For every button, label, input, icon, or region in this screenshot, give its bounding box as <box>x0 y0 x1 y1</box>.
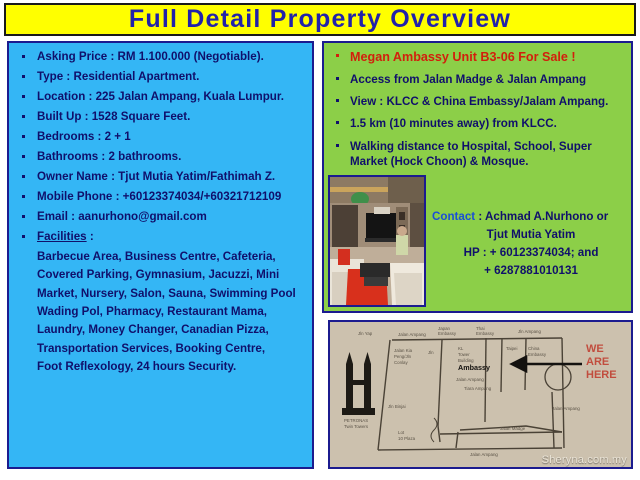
svg-text:Lot: Lot <box>398 430 405 435</box>
contact-phone-secondary: + 6287881010131 <box>432 262 630 280</box>
list-item: 1.5 km (10 minutes away) from KLCC. <box>327 116 628 131</box>
svg-text:Jalan Ampang: Jalan Ampang <box>456 377 484 382</box>
facilities-label: Facilities <box>37 230 87 243</box>
highlights-list: Megan Ambassy Unit B3-06 For Sale ! Acce… <box>327 49 628 169</box>
svg-text:KL: KL <box>458 346 464 351</box>
location-map-image: PETRONAS Twin Towers Jln Yap Jalan Ampan… <box>330 322 631 467</box>
facilities-line: Barbecue Area, Business Centre, Cafeteri… <box>37 250 308 264</box>
page-title: Full Detail Property Overview <box>129 5 511 34</box>
list-item: Built Up : 1528 Square Feet. <box>13 110 308 124</box>
svg-text:Taipei: Taipei <box>506 346 517 351</box>
facilities-line: Market, Nursery, Salon, Sauna, Swimming … <box>37 287 308 301</box>
interior-photo <box>328 175 426 307</box>
svg-text:10 Plaza: 10 Plaza <box>398 436 416 441</box>
list-item: Owner Name : Tjut Mutia Yatim/Fathimah Z… <box>13 170 308 184</box>
list-item-email: Email : aanurhono@gmail.com <box>13 210 308 224</box>
svg-text:Jalan Ampang: Jalan Ampang <box>552 406 580 411</box>
list-item: Access from Jalan Madge & Jalan Ampang <box>327 72 628 87</box>
title-bar: Full Detail Property Overview <box>4 3 636 36</box>
svg-text:Jln Binjai: Jln Binjai <box>388 404 406 409</box>
list-item: Mobile Phone : +60123374034/+60321712109 <box>13 190 308 204</box>
list-item: Bedrooms : 2 + 1 <box>13 130 308 144</box>
facilities-line: Laundry, Money Changer, Canadian Pizza, <box>37 323 308 337</box>
map-ambassy-label: Ambassy <box>458 363 490 372</box>
svg-text:Tower: Tower <box>458 352 470 357</box>
svg-text:Jalan Madge: Jalan Madge <box>500 426 526 431</box>
svg-text:China: China <box>528 346 540 351</box>
contact-line-primary: Contact : Achmad A.Nurhono or <box>432 208 630 226</box>
svg-text:Jln: Jln <box>428 350 434 355</box>
contact-name-primary: : Achmad A.Nurhono or <box>475 210 608 223</box>
facilities-line: Covered Parking, Gymnasium, Jacuzzi, Min… <box>37 268 308 282</box>
watermark: Sheryna.com.my <box>542 454 627 466</box>
contact-block: Contact : Achmad A.Nurhono or Tjut Mutia… <box>432 208 630 280</box>
svg-text:Embassy: Embassy <box>476 331 495 336</box>
contact-phone-primary: HP : + 60123374034; and <box>432 244 630 262</box>
svg-text:Tiara Ampang: Tiara Ampang <box>464 386 492 391</box>
svg-text:Embassy: Embassy <box>528 352 547 357</box>
facilities-list: Barbecue Area, Business Centre, Cafeteri… <box>13 250 308 374</box>
map-marker-line-2: ARE <box>586 356 609 368</box>
facilities-line: Foot Reflexology, 24 hours Security. <box>37 360 308 374</box>
svg-text:Twin Towers: Twin Towers <box>344 424 369 429</box>
list-item: Asking Price : RM 1.100.000 (Negotiable)… <box>13 50 308 64</box>
interior-photo-image <box>330 177 424 305</box>
svg-text:Jln Yap: Jln Yap <box>358 331 373 336</box>
svg-text:Jalan Kia: Jalan Kia <box>394 348 413 353</box>
contact-label: Contact <box>432 210 475 223</box>
svg-text:Jln Ampang: Jln Ampang <box>518 329 542 334</box>
list-item: Bathrooms : 2 bathrooms. <box>13 150 308 164</box>
list-item: View : KLCC & China Embassy/Jalam Ampang… <box>327 94 628 109</box>
facilities-line: Transportation Services, Booking Centre, <box>37 342 308 356</box>
svg-text:Jalan Ampang: Jalan Ampang <box>398 332 426 337</box>
facilities-line: Wading Pol, Pharmacy, Restaurant Mama, <box>37 305 308 319</box>
property-details-list: Asking Price : RM 1.100.000 (Negotiable)… <box>13 50 308 244</box>
list-item: Type : Residential Apartment. <box>13 70 308 84</box>
svg-text:Peng/Jln: Peng/Jln <box>394 354 412 359</box>
svg-text:PETRONAS: PETRONAS <box>344 418 368 423</box>
list-item: Location : 225 Jalan Ampang, Kuala Lumpu… <box>13 90 308 104</box>
contact-name-secondary: Tjut Mutia Yatim <box>432 226 630 244</box>
svg-text:Jalan Ampang: Jalan Ampang <box>470 452 498 457</box>
facilities-heading: Facilities : <box>13 230 308 244</box>
map-marker-line-3: HERE <box>586 369 617 381</box>
location-map: PETRONAS Twin Towers Jln Yap Jalan Ampan… <box>328 320 633 469</box>
list-item: Walking distance to Hospital, School, Su… <box>327 139 628 169</box>
svg-text:Conlay: Conlay <box>394 360 408 365</box>
facilities-colon: : <box>87 230 94 243</box>
headline-item: Megan Ambassy Unit B3-06 For Sale ! <box>327 49 628 65</box>
svg-text:Embassy: Embassy <box>438 331 457 336</box>
property-details-panel: Asking Price : RM 1.100.000 (Negotiable)… <box>7 41 314 469</box>
map-marker-line-1: WE <box>586 343 604 355</box>
